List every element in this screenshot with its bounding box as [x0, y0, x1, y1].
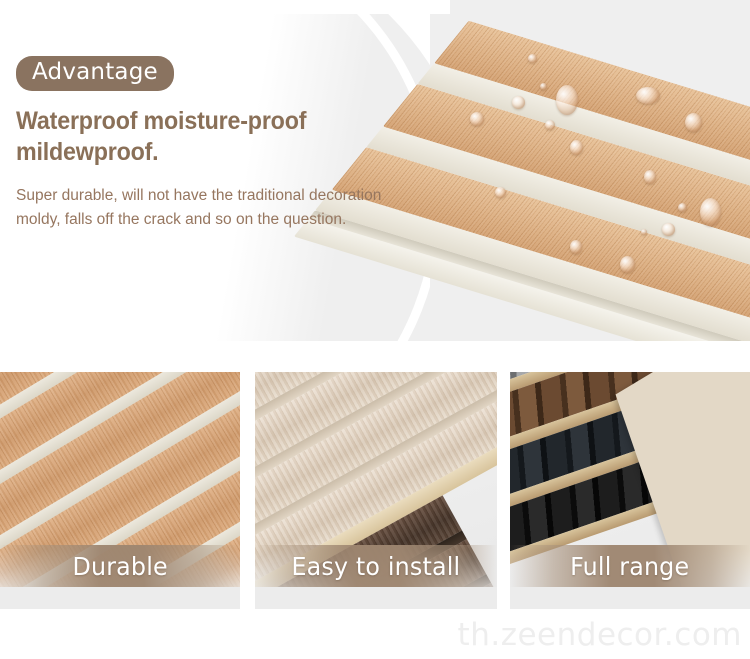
- card-caption-bar-full-range: Full range: [510, 545, 750, 587]
- card-caption-bar-durable: Durable: [0, 545, 240, 587]
- card-footer-strip: [0, 587, 240, 609]
- hero-section: Advantage Waterproof moisture-proof mild…: [0, 0, 750, 341]
- card-caption-full-range: Full range: [570, 552, 689, 581]
- hero-text-block: Advantage Waterproof moisture-proof mild…: [16, 56, 426, 248]
- site-watermark: th.zeendecor.com: [458, 617, 742, 653]
- product-feature-banner: Advantage Waterproof moisture-proof mild…: [0, 0, 750, 659]
- card-caption-easy-to-install: Easy to install: [292, 552, 461, 581]
- feature-card-durable: Durable: [0, 372, 240, 609]
- swoosh-mask-top: [0, 0, 450, 14]
- card-footer-strip: [510, 587, 750, 609]
- card-caption-bar-easy-to-install: Easy to install: [255, 545, 497, 587]
- advantage-badge: Advantage: [16, 56, 174, 91]
- feature-card-full-range: Full range: [510, 372, 750, 609]
- hero-subcopy: Super durable, will not have the traditi…: [16, 184, 426, 232]
- card-footer-strip: [255, 587, 497, 609]
- hero-headline: Waterproof moisture-proof mildewproof.: [16, 106, 397, 167]
- feature-cards-row: Durable: [0, 372, 750, 609]
- card-caption-durable: Durable: [72, 552, 167, 581]
- feature-card-easy-to-install: Easy to install: [255, 372, 497, 609]
